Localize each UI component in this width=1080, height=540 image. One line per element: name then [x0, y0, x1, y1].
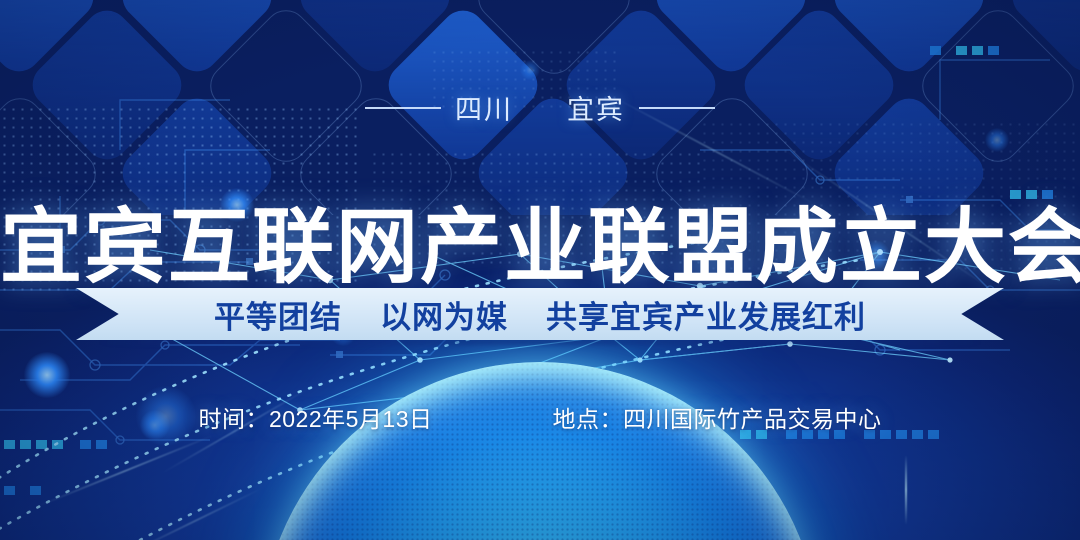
eyebrow-left-label: 四川	[455, 88, 513, 127]
slogan-ribbon: 平等团结 以网为媒 共享宜宾产业发展红利	[76, 288, 1004, 340]
eyebrow-region: 四川 宜宾	[0, 88, 1080, 127]
eyebrow-right-label: 宜宾	[567, 88, 625, 127]
event-time: 时间：2022年5月13日	[198, 400, 432, 434]
conference-poster: 四川 宜宾 宜宾互联网产业联盟成立大会 平等团结 以网为媒 共享宜宾产业发展红利…	[0, 0, 1080, 540]
slogan-part-3: 共享宜宾产业发展红利	[546, 292, 866, 337]
event-location: 地点：四川国际竹产品交易中心	[553, 400, 882, 434]
eyebrow-right-rule	[639, 107, 715, 109]
eyebrow-left-rule	[365, 107, 441, 109]
ribbon-text-region: 平等团结 以网为媒 共享宜宾产业发展红利	[76, 288, 1004, 340]
poster-content: 四川 宜宾 宜宾互联网产业联盟成立大会 平等团结 以网为媒 共享宜宾产业发展红利…	[0, 0, 1080, 540]
event-meta-region: 时间：2022年5月13日 地点：四川国际竹产品交易中心	[0, 400, 1080, 434]
poster-title: 宜宾互联网产业联盟成立大会	[0, 205, 1080, 291]
slogan-part-1: 平等团结	[214, 292, 342, 337]
slogan-part-2: 以网为媒	[380, 292, 508, 337]
